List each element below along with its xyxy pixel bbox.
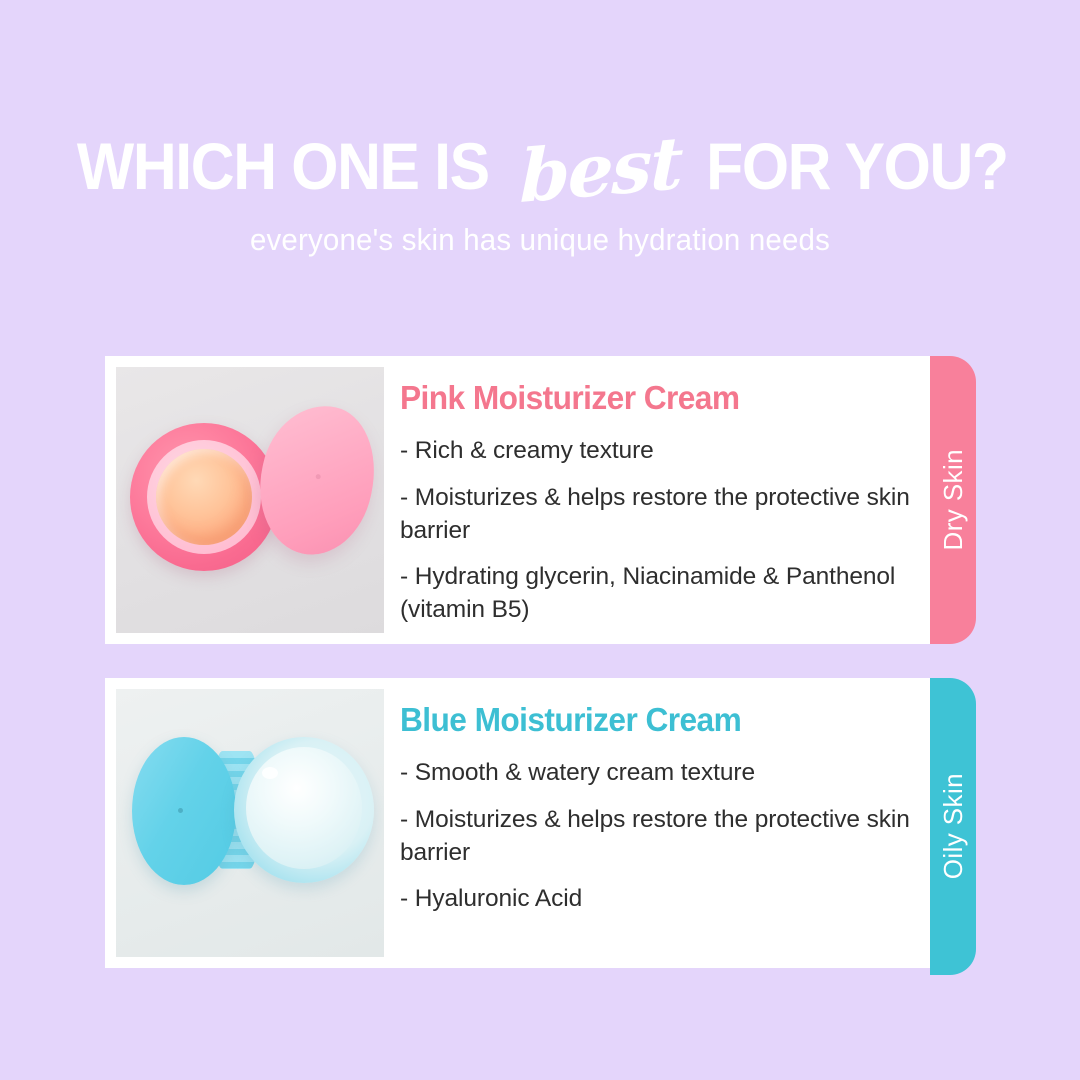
card-body-pink: Pink Moisturizer Cream - Rich & creamy t… — [384, 367, 924, 633]
pink-cream-icon — [156, 449, 252, 545]
skin-type-tab-label-oily: Oily Skin — [938, 773, 969, 879]
list-item: - Hyaluronic Acid — [400, 883, 924, 916]
pink-jar-lid-icon — [247, 395, 384, 565]
feature-list-blue: - Smooth & watery cream texture - Moistu… — [400, 757, 924, 916]
list-item: - Rich & creamy texture — [400, 435, 924, 468]
product-card-blue[interactable]: Blue Moisturizer Cream - Smooth & watery… — [105, 678, 935, 968]
product-card-pink[interactable]: Pink Moisturizer Cream - Rich & creamy t… — [105, 356, 935, 644]
subtitle: everyone's skin has unique hydration nee… — [27, 222, 1053, 258]
product-image-blue — [116, 689, 384, 957]
card-title-blue: Blue Moisturizer Cream — [400, 701, 903, 739]
card-body-blue: Blue Moisturizer Cream - Smooth & watery… — [384, 689, 924, 957]
blue-gel-icon — [246, 747, 362, 869]
list-item: - Moisturizes & helps restore the protec… — [400, 482, 924, 548]
list-item: - Moisturizes & helps restore the protec… — [400, 804, 924, 870]
card-title-pink: Pink Moisturizer Cream — [400, 379, 903, 417]
headline-suffix: FOR YOU? — [706, 133, 1008, 199]
blue-jar-cap-icon — [132, 737, 236, 885]
infographic-poster: WHICH ONE IS best FOR YOU? everyone's sk… — [0, 0, 1080, 1080]
skin-type-tab-dry[interactable]: Dry Skin — [930, 356, 976, 644]
list-item: - Smooth & watery cream texture — [400, 757, 924, 790]
header: WHICH ONE IS best FOR YOU? everyone's sk… — [0, 128, 1080, 258]
skin-type-tab-label-dry: Dry Skin — [938, 449, 969, 550]
product-image-pink — [116, 367, 384, 633]
headline: WHICH ONE IS best FOR YOU? — [0, 128, 1080, 200]
list-item: - Hydrating glycerin, Niacinamide & Pant… — [400, 561, 924, 627]
headline-script-word: best — [507, 126, 694, 215]
feature-list-pink: - Rich & creamy texture - Moisturizes & … — [400, 435, 924, 627]
skin-type-tab-oily[interactable]: Oily Skin — [930, 678, 976, 975]
headline-prefix: WHICH ONE IS — [77, 133, 489, 199]
